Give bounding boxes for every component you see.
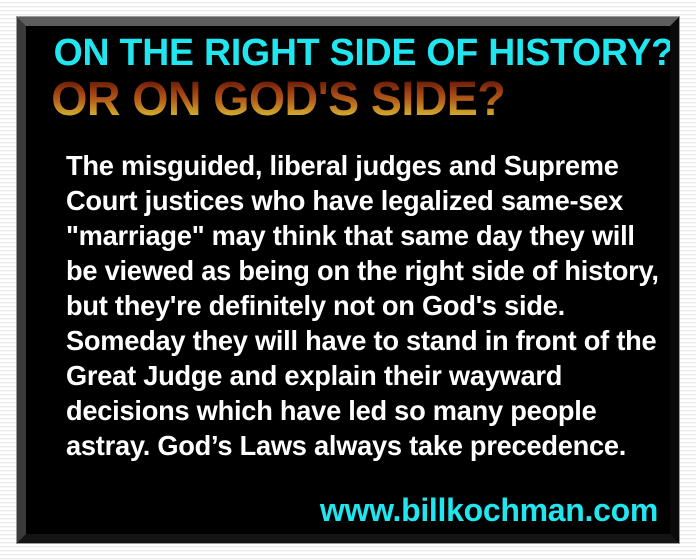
headline-line-1: ON THE RIGHT SIDE OF HISTORY? — [26, 32, 660, 74]
poster-body-text: The misguided, liberal judges and Suprem… — [66, 148, 660, 463]
website-url-footer: www.billkochman.com — [320, 492, 658, 528]
poster-frame: ON THE RIGHT SIDE OF HISTORY? OR ON GOD'… — [17, 17, 679, 543]
headline-block: ON THE RIGHT SIDE OF HISTORY? OR ON GOD'… — [26, 32, 670, 126]
poster-canvas: ON THE RIGHT SIDE OF HISTORY? OR ON GOD'… — [26, 26, 670, 534]
headline-line-2: OR ON GOD'S SIDE? — [26, 74, 651, 126]
